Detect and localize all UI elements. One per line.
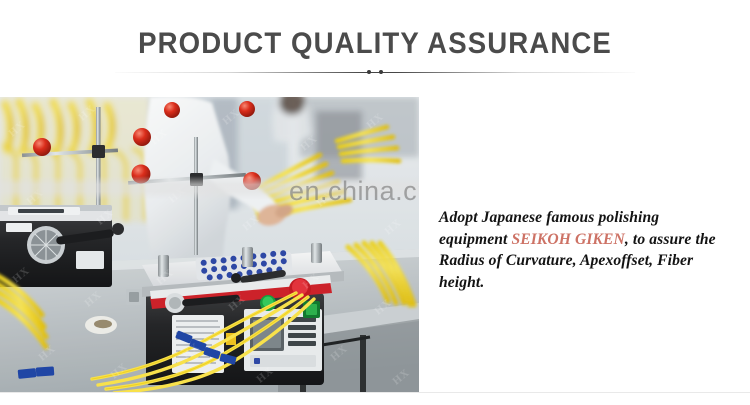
title-divider [115, 66, 635, 80]
caption-text: Adopt Japanese famous polishing equipmen… [439, 207, 731, 293]
brand-name: SEIKOH GIKEN [511, 231, 624, 248]
caption-line-1: Adopt Japanese famous polishing [439, 209, 659, 226]
caption-line-2-suffix: , to [625, 231, 645, 248]
divider-line [115, 72, 635, 73]
factory-photo-illustration [0, 97, 419, 392]
page-title: PRODUCT QUALITY ASSURANCE [30, 26, 720, 62]
caption-line-2-prefix: equipment [439, 231, 511, 248]
header: PRODUCT QUALITY ASSURANCE [0, 0, 750, 97]
caption-panel: Adopt Japanese famous polishing equipmen… [419, 97, 750, 392]
factory-photo: HX HX HX HX HX HX HX HX HX HX HX HX HX H… [0, 97, 419, 392]
divider-dot-left [367, 70, 371, 74]
product-quality-assurance-banner: PRODUCT QUALITY ASSURANCE [0, 0, 750, 405]
bottom-strip [0, 392, 750, 405]
bottom-rule [0, 392, 750, 393]
divider-dot-right [379, 70, 383, 74]
